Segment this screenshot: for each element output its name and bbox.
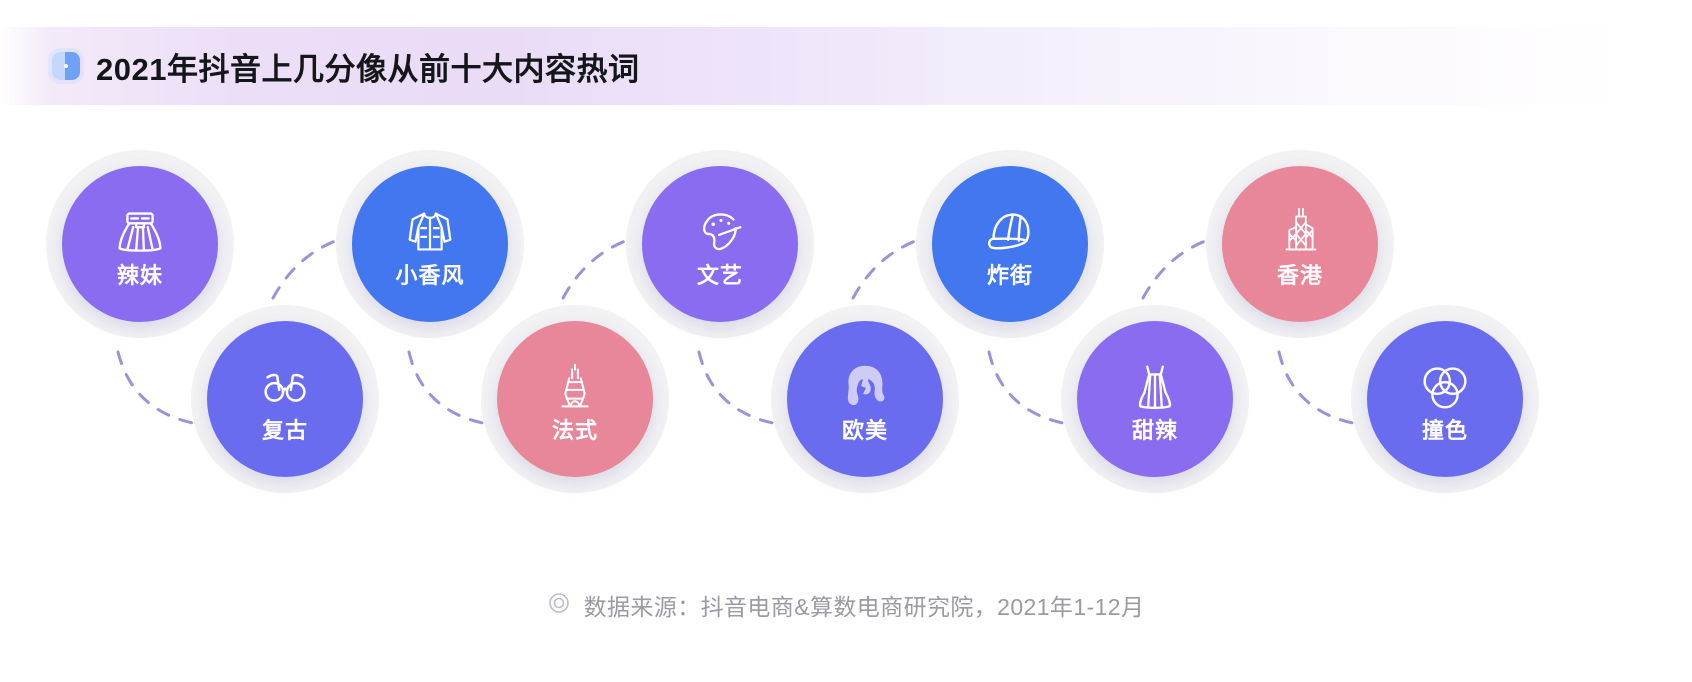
node-disc[interactable]: 文艺 — [642, 166, 798, 322]
page-title: 2021年抖音上几分像从前十大内容热词 — [96, 44, 639, 89]
node-label: 甜辣 — [1132, 420, 1178, 442]
node-label: 文艺 — [697, 265, 743, 287]
pleated-skirt-icon — [109, 201, 171, 263]
paint-palette-icon — [689, 201, 751, 263]
data-source-text: 数据来源：抖音电商&算数电商研究院，2021年1-12月 — [584, 588, 1145, 622]
eyeglasses-icon — [254, 356, 316, 418]
node-disc[interactable]: 小香风 — [352, 166, 508, 322]
node-2[interactable]: 复古 — [207, 321, 363, 477]
node-disc[interactable]: 甜辣 — [1077, 321, 1233, 477]
header: 2021年抖音上几分像从前十大内容热词 — [52, 42, 639, 90]
data-source-footer: 数据来源：抖音电商&算数电商研究院，2021年1-12月 — [0, 588, 1692, 622]
tweed-cardigan-icon — [399, 201, 461, 263]
node-label: 欧美 — [842, 420, 888, 442]
node-label: 法式 — [552, 420, 598, 442]
hongkong-tower-icon — [1269, 201, 1331, 263]
eiffel-tower-icon — [544, 356, 606, 418]
long-wavy-hair-icon — [834, 356, 896, 418]
node-label: 小香风 — [395, 265, 464, 287]
venn-three-circles-icon — [1414, 356, 1476, 418]
node-label: 香港 — [1277, 265, 1323, 287]
node-7[interactable]: 炸街 — [932, 166, 1088, 322]
node-5[interactable]: 文艺 — [642, 166, 798, 322]
node-disc[interactable]: 炸街 — [932, 166, 1088, 322]
node-disc[interactable]: 香港 — [1222, 166, 1378, 322]
node-9[interactable]: 香港 — [1222, 166, 1378, 322]
node-6[interactable]: 欧美 — [787, 321, 943, 477]
node-1[interactable]: 辣妹 — [62, 166, 218, 322]
node-label: 复古 — [262, 420, 308, 442]
node-label: 炸街 — [987, 265, 1033, 287]
node-disc[interactable]: 辣妹 — [62, 166, 218, 322]
node-disc[interactable]: 法式 — [497, 321, 653, 477]
node-label: 辣妹 — [117, 265, 163, 287]
sleeveless-dress-icon — [1124, 356, 1186, 418]
target-ring-icon — [548, 592, 570, 619]
node-8[interactable]: 甜辣 — [1077, 321, 1233, 477]
hot-words-diagram: 辣妹 复古 — [0, 120, 1692, 520]
node-10[interactable]: 撞色 — [1367, 321, 1523, 477]
node-label: 撞色 — [1422, 420, 1468, 442]
rounded-square-badge-icon — [52, 52, 80, 80]
node-disc[interactable]: 撞色 — [1367, 321, 1523, 477]
node-disc[interactable]: 欧美 — [787, 321, 943, 477]
node-disc[interactable]: 复古 — [207, 321, 363, 477]
node-4[interactable]: 法式 — [497, 321, 653, 477]
baseball-cap-icon — [979, 201, 1041, 263]
node-3[interactable]: 小香风 — [352, 166, 508, 322]
